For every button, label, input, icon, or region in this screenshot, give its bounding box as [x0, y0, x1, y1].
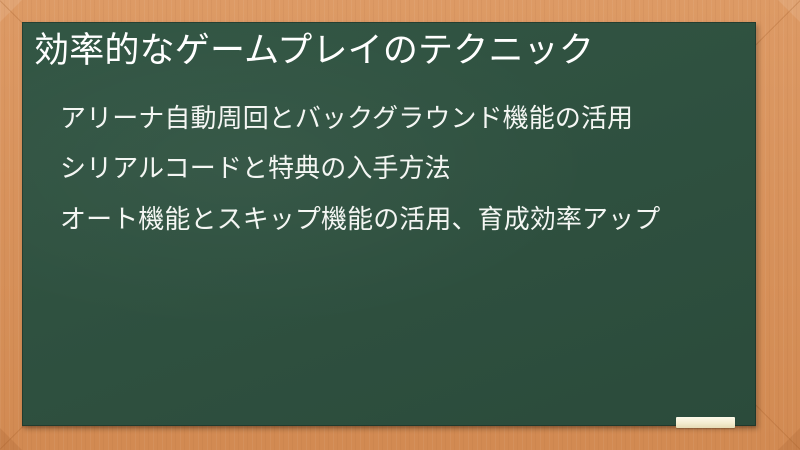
board-content: 効率的なゲームプレイのテクニック アリーナ自動周回とバックグラウンド機能の活用 …: [22, 22, 756, 426]
chalkboard-surface: 効率的なゲームプレイのテクニック アリーナ自動周回とバックグラウンド機能の活用 …: [22, 22, 756, 426]
list-item: シリアルコードと特典の入手方法: [60, 152, 738, 186]
blackboard-slide: 効率的なゲームプレイのテクニック アリーナ自動周回とバックグラウンド機能の活用 …: [0, 0, 800, 450]
bullet-list: アリーナ自動周回とバックグラウンド機能の活用 シリアルコードと特典の入手方法 オ…: [60, 102, 738, 253]
chalk-stick-icon: [676, 417, 735, 428]
list-item: アリーナ自動周回とバックグラウンド機能の活用: [60, 102, 738, 136]
page-title: 効率的なゲームプレイのテクニック: [34, 30, 746, 74]
list-item: オート機能とスキップ機能の活用、育成効率アップ: [60, 203, 740, 237]
